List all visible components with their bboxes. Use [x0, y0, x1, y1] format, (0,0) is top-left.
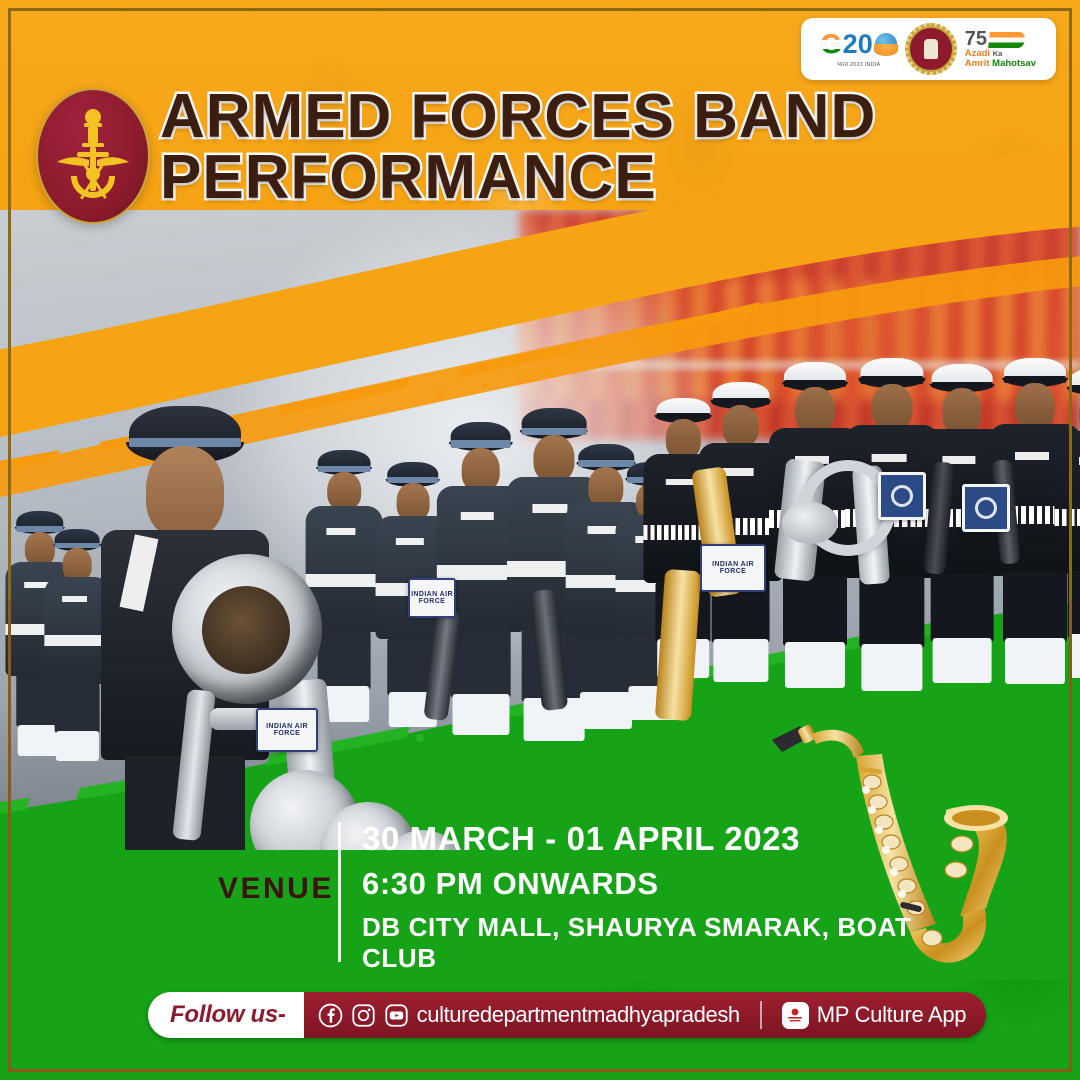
navy-standard-plaque — [962, 484, 1010, 532]
indian-air-force-plaque: INDIAN AIR FORCE — [408, 578, 456, 618]
youtube-icon[interactable] — [384, 1003, 409, 1028]
madhya-pradesh-government-seal — [905, 23, 957, 75]
ka-word: Ka — [993, 49, 1003, 58]
amrit-word: Amrit — [965, 58, 990, 69]
logo-bar: G 20 भारत 2023 INDIA 75 Azadi Ka Amrit M… — [801, 18, 1056, 80]
mp-culture-app-label[interactable]: MP Culture App — [817, 1002, 966, 1028]
footer-separator — [760, 1001, 762, 1029]
venue-divider — [338, 822, 341, 962]
title-line-1: ARMED FORCES BAND — [160, 86, 920, 147]
azadi-ka-amrit-mahotsav-logo: 75 Azadi Ka Amrit Mahotsav — [957, 30, 1044, 69]
follow-us-label: Follow us- — [148, 992, 304, 1038]
social-handle[interactable]: culturedepartmentmadhyapradesh — [417, 1002, 740, 1028]
g20-logo: G 20 भारत 2023 INDIA — [813, 31, 905, 68]
indian-tricolour-flag-icon — [988, 32, 1026, 48]
armed-forces-tri-service-emblem — [36, 88, 150, 224]
indian-air-force-plaque: INDIAN AIR FORCE — [256, 708, 318, 752]
facebook-icon[interactable] — [318, 1003, 343, 1028]
azadi-75-badge: 75 — [965, 30, 987, 48]
event-time: 6:30 PM ONWARDS — [362, 866, 659, 902]
page-title: ARMED FORCES BAND PERFORMANCE — [160, 86, 920, 209]
instagram-icon[interactable] — [351, 1003, 376, 1028]
g20-subtitle: भारत 2023 INDIA — [837, 60, 880, 68]
navy-bandsman — [1046, 366, 1080, 680]
horn-bell — [782, 502, 838, 544]
g20-letter-g: G — [821, 31, 842, 58]
g20-globe-lotus-icon — [875, 33, 897, 55]
event-date: 30 MARCH - 01 APRIL 2023 — [362, 820, 800, 858]
poster-canvas: INDIAN AIR FORCEINDIAN AIR FORCEINDIAN A… — [0, 0, 1080, 1080]
event-place: DB CITY MALL, SHAURYA SMARAK, BOAT CLUB — [362, 912, 922, 974]
mahotsav-word: Mahotsav — [992, 58, 1036, 69]
mp-culture-app-icon[interactable] — [782, 1002, 809, 1029]
title-line-2: PERFORMANCE — [160, 147, 920, 208]
indian-air-force-plaque: INDIAN AIR FORCE — [700, 544, 766, 592]
g20-number: 20 — [843, 31, 873, 58]
venue-label: VENUE — [218, 872, 334, 906]
follow-us-bar: Follow us- culturedepartmentmadhyaprades… — [148, 992, 986, 1038]
navy-standard-plaque — [878, 472, 926, 520]
